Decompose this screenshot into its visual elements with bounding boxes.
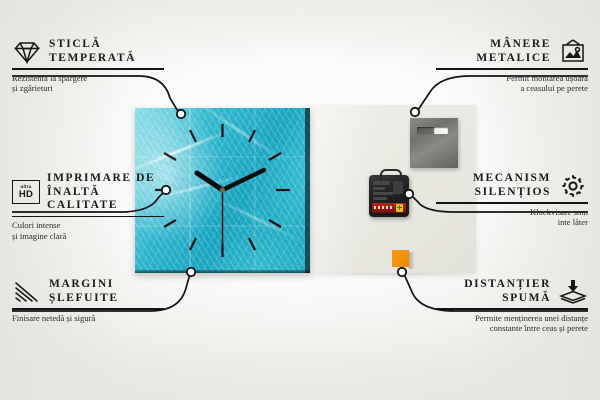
badge-text-hd: HD xyxy=(19,190,33,200)
feature-subtitle: Permite menținerea unei distanțe constan… xyxy=(436,310,588,334)
battery-plus-terminal xyxy=(396,204,403,212)
feature-title: MARGINI ȘLEFUITE xyxy=(49,278,119,305)
feature-sub-line1: Finisare netedă și sigură xyxy=(12,313,164,324)
clock-bottom-edge xyxy=(135,270,310,273)
feature-title-line2: ȘLEFUITE xyxy=(49,292,119,306)
foam-spacer-icon xyxy=(558,279,588,305)
feature-title-line2: ÎNALTĂ CALITATE xyxy=(47,186,164,213)
clock-mechanism xyxy=(369,175,409,217)
feature-head: MÂNERE METALICE xyxy=(436,38,588,68)
feature-foam: DISTANȚIER SPUMĂ Permite menținerea unei… xyxy=(436,278,588,334)
feature-edges: MARGINI ȘLEFUITE Finisare netedă și sigu… xyxy=(12,278,164,323)
feature-title: STICLĂ TEMPERATĂ xyxy=(49,38,136,65)
feature-title-line1: MÂNERE xyxy=(490,38,551,52)
picture-hanger-icon xyxy=(558,39,588,65)
feature-head: DISTANȚIER SPUMĂ xyxy=(436,278,588,308)
gear-icon xyxy=(558,173,588,199)
feature-sub-line2: constante între ceas și perete xyxy=(436,323,588,334)
feature-sub-line1: Klockvisare som xyxy=(436,207,588,218)
feature-subtitle: Finisare netedă și sigură xyxy=(12,310,164,324)
feature-sub-line2: și zgârieturi xyxy=(12,83,164,94)
infographic-canvas: STICLĂ TEMPERATĂ Rezistentă la spargere … xyxy=(0,0,600,400)
feature-title-line2: SPUMĂ xyxy=(502,292,551,306)
feature-mechanism: MECANISM SILENȚIOS Klockvisare som inte … xyxy=(436,172,588,228)
feature-print: ultra HD IMPRIMARE DE ÎNALTĂ CALITATE Cu… xyxy=(12,172,164,241)
feature-title-line2: METALICE xyxy=(476,52,551,66)
feature-head: MECANISM SILENȚIOS xyxy=(436,172,588,202)
mechanism-bail xyxy=(380,169,402,181)
feature-title-line2: TEMPERATĂ xyxy=(49,52,136,66)
feature-head: STICLĂ TEMPERATĂ xyxy=(12,38,164,68)
mechanism-detail xyxy=(373,192,393,195)
polished-edge-icon xyxy=(12,280,42,304)
mechanism-detail xyxy=(373,187,385,190)
foam-shadow xyxy=(409,252,415,269)
hanger-slot xyxy=(417,127,448,134)
mechanism-detail xyxy=(373,181,390,185)
feature-subtitle: Permit montarea ușoară a ceasului pe per… xyxy=(436,70,588,94)
feature-head: ultra HD IMPRIMARE DE ÎNALTĂ CALITATE xyxy=(12,172,164,216)
mechanism-detail xyxy=(373,197,387,200)
feature-title-line1: IMPRIMARE DE xyxy=(47,172,155,186)
feature-glass: STICLĂ TEMPERATĂ Rezistentă la spargere … xyxy=(12,38,164,94)
foam-spacer xyxy=(392,250,409,267)
feature-sub-line2: inte låter xyxy=(436,217,588,228)
feature-title-line2: SILENȚIOS xyxy=(475,186,551,200)
feature-sub-line1: Rezistentă la spargere xyxy=(12,73,164,84)
diamond-icon xyxy=(12,40,42,64)
feature-subtitle: Rezistentă la spargere și zgârieturi xyxy=(12,70,164,94)
feature-head: MARGINI ȘLEFUITE xyxy=(12,278,164,308)
mechanism-detail xyxy=(393,181,403,194)
feature-sub-line1: Permit montarea ușoară xyxy=(436,73,588,84)
metal-grain xyxy=(410,118,458,168)
feature-title-line1: DISTANȚIER xyxy=(464,278,551,292)
feature-title: IMPRIMARE DE ÎNALTĂ CALITATE xyxy=(47,172,164,213)
battery xyxy=(372,203,406,213)
ultra-hd-badge-icon: ultra HD xyxy=(12,180,40,204)
battery-label xyxy=(374,206,394,209)
feature-title-line1: MARGINI xyxy=(49,278,114,292)
feature-subtitle: Klockvisare som inte låter xyxy=(436,204,588,228)
feature-subtitle: Culori intense și imagine clară xyxy=(12,217,164,241)
feature-sub-line1: Permite menținerea unei distanțe xyxy=(436,313,588,324)
feature-title: MECANISM SILENȚIOS xyxy=(473,172,551,199)
feature-title: DISTANȚIER SPUMĂ xyxy=(464,278,551,305)
feature-sub-line2: și imagine clară xyxy=(12,231,164,242)
metal-hanger-plate xyxy=(410,118,458,168)
feature-title: MÂNERE METALICE xyxy=(476,38,551,65)
feature-title-line1: MECANISM xyxy=(473,172,551,186)
clock-side-edge xyxy=(305,108,310,273)
feature-sub-line2: a ceasului pe perete xyxy=(436,83,588,94)
feature-title-line1: STICLĂ xyxy=(49,38,101,52)
feature-handles: MÂNERE METALICE Permit montarea ușoară a… xyxy=(436,38,588,94)
feature-sub-line1: Culori intense xyxy=(12,220,164,231)
